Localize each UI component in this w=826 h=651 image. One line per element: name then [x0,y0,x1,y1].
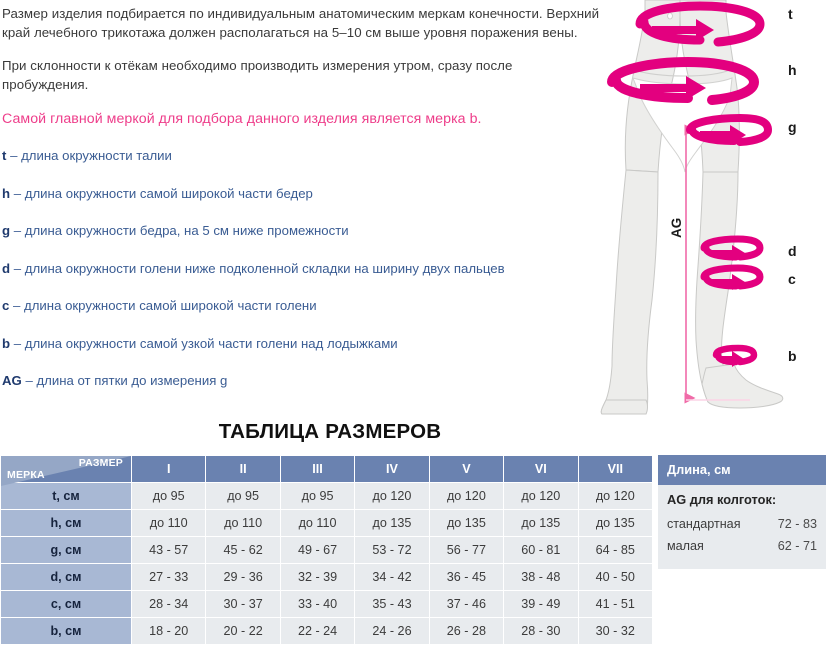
illustration-label-t: t [788,6,793,22]
length-panel-body: AG для колготок: стандартная 72 - 83 мал… [658,485,826,569]
illustration-label-b: b [788,348,797,364]
cell-c-ii: 30 - 37 [206,591,280,618]
cell-h-iv: до 135 [355,510,429,537]
illustration-label-g: g [788,119,797,135]
row-label-c: c, см [1,591,132,618]
legend-item-ag: AG – длина от пятки до измерения g [2,372,602,389]
cell-g-i: 43 - 57 [132,537,206,564]
cell-t-i: до 95 [132,483,206,510]
highlight-note: Самой главной меркой для подбора данного… [2,110,602,129]
length-panel: Длина, см AG для колготок: стандартная 7… [658,455,826,569]
cell-b-vi: 28 - 30 [504,618,578,645]
column-header-ii: II [206,456,280,483]
row-label-t: t, см [1,483,132,510]
legend-description: длина окружности талии [21,148,172,163]
legend-description: длина окружности голени ниже подколенной… [25,261,505,276]
size-table: РАЗМЕР МЕРКА I II III IV V VI VII t, см … [0,455,653,645]
cell-h-vii: до 135 [578,510,652,537]
cell-c-vii: 41 - 51 [578,591,652,618]
table-row: c, см 28 - 34 30 - 37 33 - 40 35 - 43 37… [1,591,653,618]
legend-item-d: d – длина окружности голени ниже подколе… [2,260,602,277]
cell-d-i: 27 - 33 [132,564,206,591]
cell-g-vii: 64 - 85 [578,537,652,564]
measurement-legend: t – длина окружности талии h – длина окр… [2,147,602,389]
cell-h-ii: до 110 [206,510,280,537]
legend-dash: – [14,261,21,276]
legend-item-t: t – длина окружности талии [2,147,602,164]
cell-t-vi: до 120 [504,483,578,510]
length-row-small: малая 62 - 71 [667,539,817,553]
cell-b-vii: 30 - 32 [578,618,652,645]
illustration-label-d: d [788,243,797,259]
legend-key: AG [2,373,22,388]
cell-b-i: 18 - 20 [132,618,206,645]
legend-description: длина окружности самой широкой части гол… [24,298,317,313]
row-label-h: h, см [1,510,132,537]
cell-g-iv: 53 - 72 [355,537,429,564]
length-row-value: 72 - 83 [778,517,817,531]
length-panel-header: Длина, см [658,455,826,485]
cell-d-v: 36 - 45 [429,564,503,591]
cell-g-vi: 60 - 81 [504,537,578,564]
legend-key: c [2,298,9,313]
corner-measure-label: МЕРКА [7,469,45,481]
table-row: g, см 43 - 57 45 - 62 49 - 67 53 - 72 56… [1,537,653,564]
cell-b-ii: 20 - 22 [206,618,280,645]
corner-size-label: РАЗМЕР [79,457,123,469]
cell-g-iii: 49 - 67 [280,537,354,564]
instructions-panel: Размер изделия подбирается по индивидуал… [2,4,602,410]
length-panel-title: AG для колготок: [667,492,817,507]
illustration-label-h: h [788,62,797,78]
length-row-name: стандартная [667,517,741,531]
legend-key: b [2,336,10,351]
intro-paragraph-2: При склонности к отёкам необходимо произ… [2,56,602,94]
column-header-vi: VI [504,456,578,483]
column-header-v: V [429,456,503,483]
column-header-iii: III [280,456,354,483]
cell-b-iii: 22 - 24 [280,618,354,645]
table-row: h, см до 110 до 110 до 110 до 135 до 135… [1,510,653,537]
legend-description: длина окружности бедра, на 5 см ниже про… [25,223,349,238]
column-header-vii: VII [578,456,652,483]
length-row-standard: стандартная 72 - 83 [667,517,817,531]
illustration-label-ag: AG [669,218,684,238]
cell-d-vii: 40 - 50 [578,564,652,591]
cell-c-iii: 33 - 40 [280,591,354,618]
column-header-i: I [132,456,206,483]
legend-description: длина от пятки до измерения g [36,373,227,388]
table-row: b, см 18 - 20 20 - 22 22 - 24 24 - 26 26… [1,618,653,645]
cell-h-i: до 110 [132,510,206,537]
legend-item-b: b – длина окружности самой узкой части г… [2,335,602,352]
intro-paragraph-1: Размер изделия подбирается по индивидуал… [2,4,602,42]
table-corner-cell: РАЗМЕР МЕРКА [1,456,132,483]
length-row-name: малая [667,539,704,553]
legend-dash: – [10,148,17,163]
row-label-g: g, см [1,537,132,564]
table-row: d, см 27 - 33 29 - 36 32 - 39 34 - 42 36… [1,564,653,591]
legend-dash: – [14,223,21,238]
legend-item-g: g – длина окружности бедра, на 5 см ниже… [2,222,602,239]
cell-t-ii: до 95 [206,483,280,510]
legend-description: длина окружности самой узкой части голен… [25,336,398,351]
length-row-value: 62 - 71 [778,539,817,553]
legend-key: d [2,261,10,276]
cell-c-vi: 39 - 49 [504,591,578,618]
cell-c-v: 37 - 46 [429,591,503,618]
cell-g-ii: 45 - 62 [206,537,280,564]
column-header-iv: IV [355,456,429,483]
cell-d-iv: 34 - 42 [355,564,429,591]
legend-dash: – [25,373,32,388]
legend-dash: – [13,298,20,313]
cell-g-v: 56 - 77 [429,537,503,564]
row-label-d: d, см [1,564,132,591]
table-header-row: РАЗМЕР МЕРКА I II III IV V VI VII [1,456,653,483]
legend-description: длина окружности самой широкой части бед… [25,186,313,201]
cell-t-v: до 120 [429,483,503,510]
cell-t-iii: до 95 [280,483,354,510]
illustration-label-c: c [788,271,796,287]
cell-d-iii: 32 - 39 [280,564,354,591]
legend-item-h: h – длина окружности самой широкой части… [2,185,602,202]
cell-c-i: 28 - 34 [132,591,206,618]
legend-item-c: c – длина окружности самой широкой части… [2,297,602,314]
cell-h-v: до 135 [429,510,503,537]
legend-dash: – [14,336,21,351]
legend-dash: – [14,186,21,201]
legend-key: g [2,223,10,238]
cell-t-vii: до 120 [578,483,652,510]
cell-b-v: 26 - 28 [429,618,503,645]
cell-t-iv: до 120 [355,483,429,510]
legend-key: h [2,186,10,201]
measure-ring-g [690,118,768,145]
cell-d-ii: 29 - 36 [206,564,280,591]
cell-b-iv: 24 - 26 [355,618,429,645]
cell-d-vi: 38 - 48 [504,564,578,591]
cell-c-iv: 35 - 43 [355,591,429,618]
table-title: ТАБЛИЦА РАЗМЕРОВ [0,420,660,444]
legend-key: t [2,148,6,163]
row-label-b: b, см [1,618,132,645]
cell-h-iii: до 110 [280,510,354,537]
cell-h-vi: до 135 [504,510,578,537]
table-row: t, см до 95 до 95 до 95 до 120 до 120 до… [1,483,653,510]
body-measurement-illustration: t h g d c b AG [600,0,826,415]
